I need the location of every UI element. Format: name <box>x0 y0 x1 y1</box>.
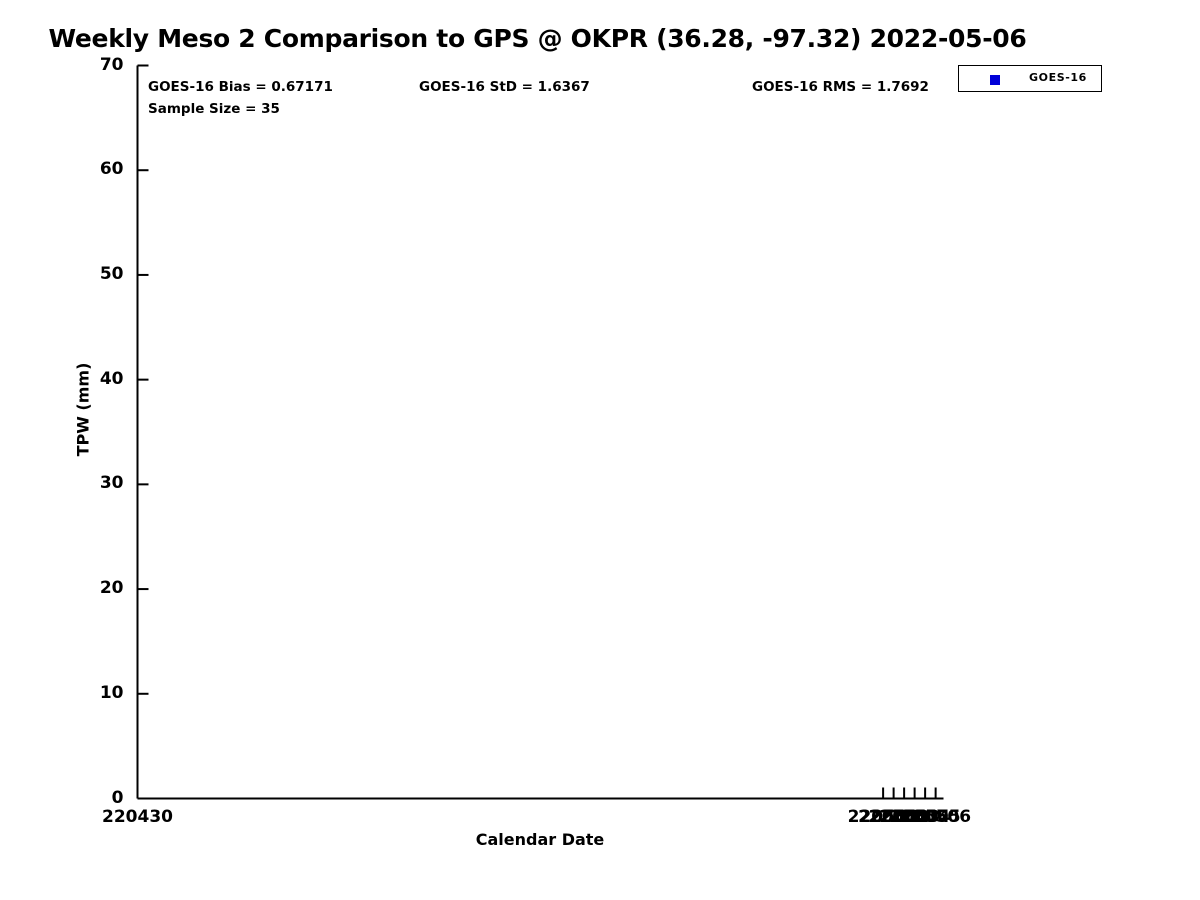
y-axis-tick-label: 30 <box>64 473 124 493</box>
chart-legend: GOES-16 <box>958 65 1102 92</box>
page-title: Weekly Meso 2 Comparison to GPS @ OKPR (… <box>0 24 1075 53</box>
x-axis-tick-label: 220506 <box>866 807 1006 827</box>
y-axis-tick-label: 10 <box>64 683 124 703</box>
stat-std: GOES-16 StD = 1.6367 <box>419 79 590 95</box>
x-axis-title: Calendar Date <box>137 830 943 849</box>
legend-label-goes16: GOES-16 <box>1019 71 1097 84</box>
legend-marker-goes16-icon <box>990 75 1000 85</box>
stat-rms: GOES-16 RMS = 1.7692 <box>752 79 929 95</box>
y-axis-tick-label: 50 <box>64 264 124 284</box>
y-axis-tick-label: 0 <box>64 788 124 808</box>
y-axis-tick-label: 20 <box>64 578 124 598</box>
stat-bias: GOES-16 Bias = 0.67171 <box>148 79 333 95</box>
axis-layer <box>138 66 944 799</box>
y-axis-tick-label: 70 <box>64 55 124 75</box>
chart-figure: Weekly Meso 2 Comparison to GPS @ OKPR (… <box>0 0 1200 900</box>
plot-canvas <box>0 0 1200 900</box>
y-axis-tick-label: 40 <box>64 369 124 389</box>
y-axis-tick-label: 60 <box>64 159 124 179</box>
x-axis-tick-label: 220430 <box>68 807 208 827</box>
stat-sample-size: Sample Size = 35 <box>148 101 280 117</box>
